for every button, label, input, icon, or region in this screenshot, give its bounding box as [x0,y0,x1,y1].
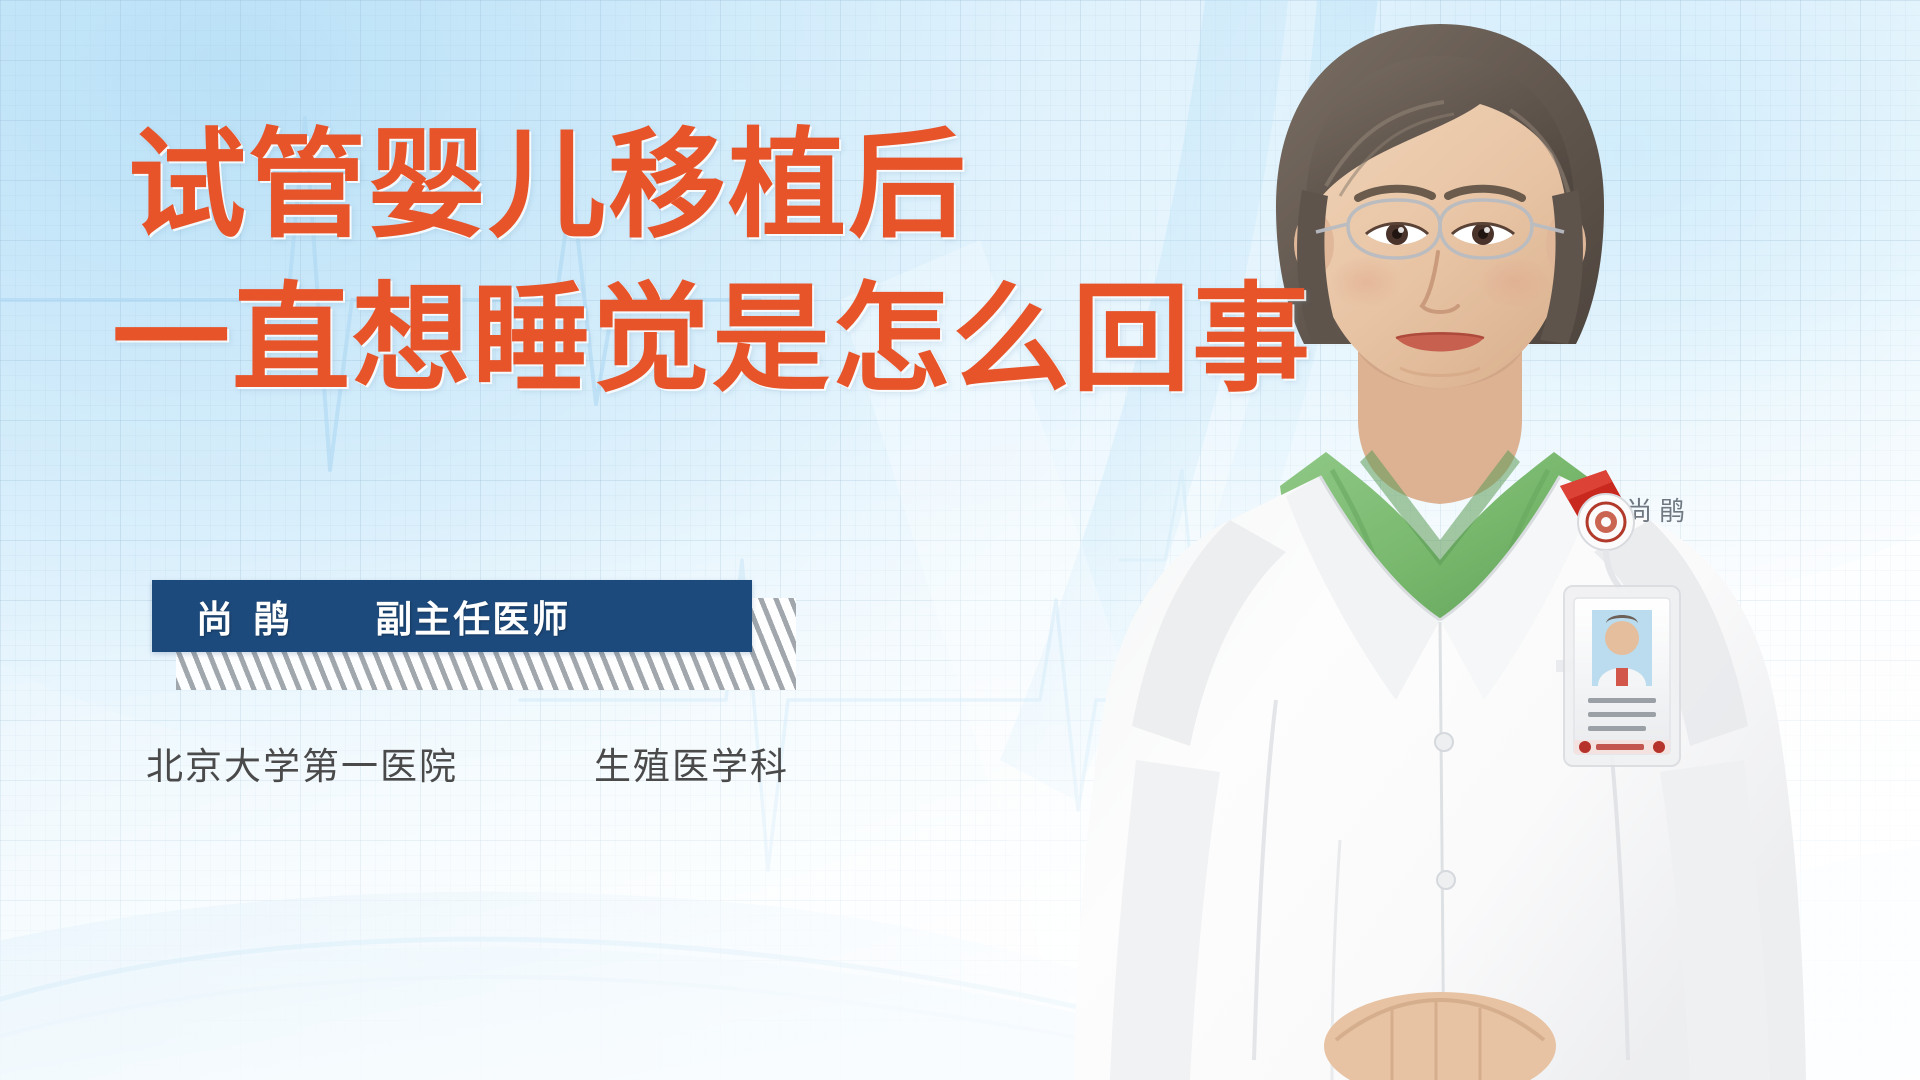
title-block: 试管婴儿移植后 一直想睡觉是怎么回事 [128,118,1448,408]
title-line-1: 试管婴儿移植后 [128,118,1448,254]
department-name: 生殖医学科 [594,736,789,790]
badge-text-line-2 [1588,712,1656,717]
badge-reel-center [1601,517,1611,527]
speaker-professional-title: 副主任医师 [375,589,570,643]
hospital-name: 北京大学第一医院 [146,736,458,790]
badge-text-line-1 [1588,698,1656,703]
badge-photo-face [1605,621,1639,655]
coat-button-1 [1435,733,1453,751]
title-card-canvas: 尚 鹃 [0,0,1920,1080]
badge-text-line-3 [1588,726,1646,731]
badge-hospital-seal-left [1579,741,1591,753]
badge-hospital-name [1596,744,1644,750]
speaker-banner: 尚 鹃 副主任医师 [152,580,792,690]
title-line-2: 一直想睡觉是怎么回事 [112,272,1448,408]
banner-plate: 尚 鹃 副主任医师 [152,580,752,652]
badge-photo-collar [1616,668,1628,686]
affiliation-row: 北京大学第一医院 生殖医学科 [146,736,789,790]
speaker-name: 尚 鹃 [196,589,295,643]
badge-hospital-seal-right [1653,741,1665,753]
coat-button-2 [1437,871,1455,889]
cheek-right [1478,256,1550,308]
